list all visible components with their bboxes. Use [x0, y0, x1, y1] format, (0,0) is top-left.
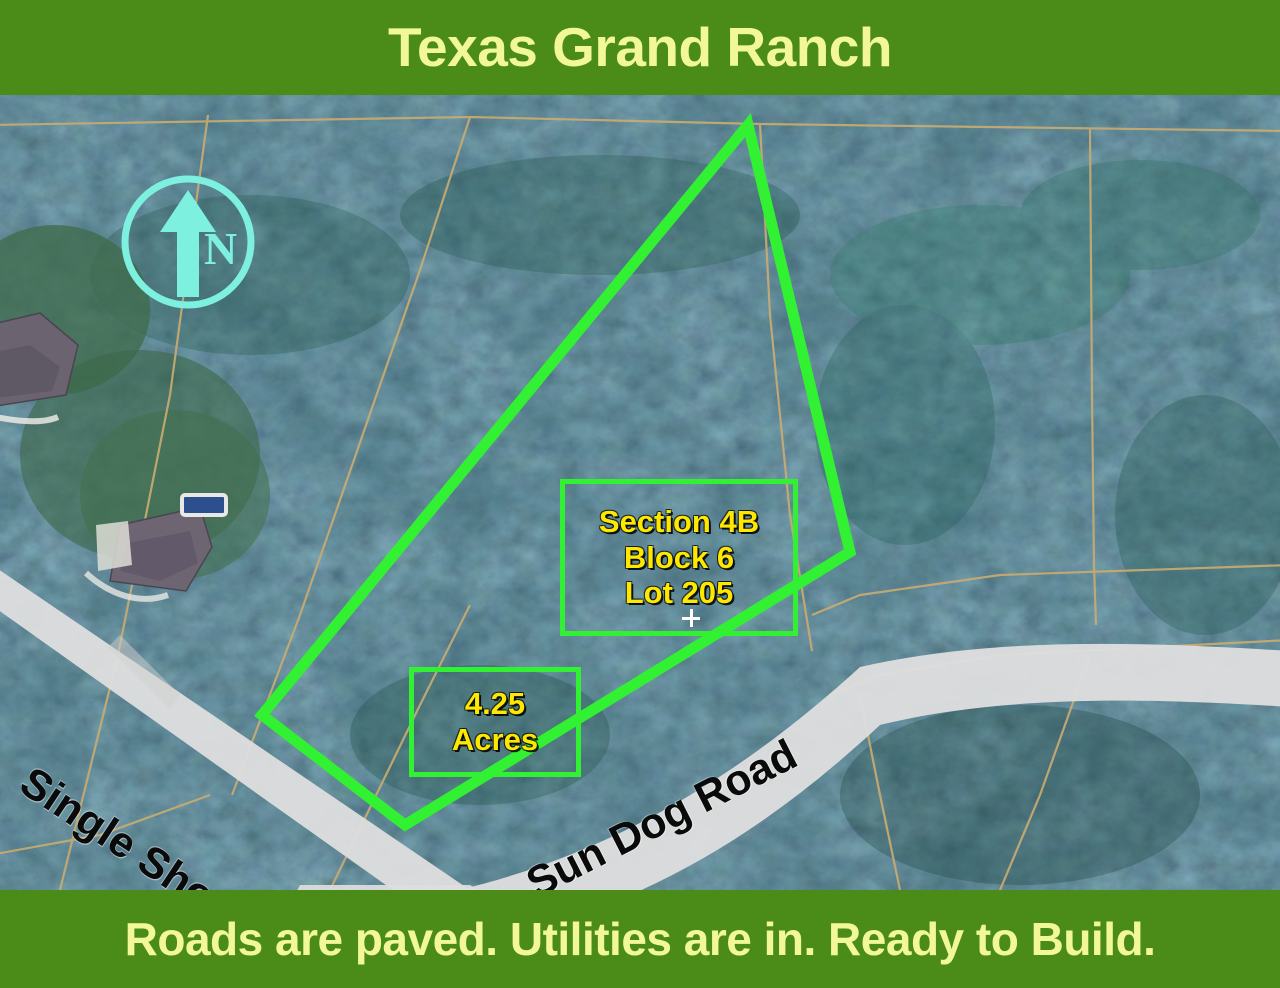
compass-rose: N: [118, 172, 258, 312]
tagline-text: Roads are paved. Utilities are in. Ready…: [125, 916, 1156, 962]
acreage-unit: Acres: [452, 722, 538, 758]
section-line: Section 4B: [599, 504, 759, 540]
lot-line: Lot 205: [625, 575, 734, 611]
compass-north-letter: N: [204, 226, 237, 272]
acreage-box: 4.25 Acres: [409, 667, 581, 777]
block-line: Block 6: [624, 540, 734, 576]
acreage-value: 4.25: [465, 686, 525, 722]
aerial-map: N Single Shot Court Sun Dog Road Section…: [0, 95, 1280, 890]
lot-identification-box: Section 4B Block 6 Lot 205: [560, 479, 798, 636]
swimming-pool: [182, 495, 226, 515]
lot-marketing-image: Texas Grand Ranch: [0, 0, 1280, 988]
page-title: Texas Grand Ranch: [388, 20, 892, 75]
title-banner: Texas Grand Ranch: [0, 0, 1280, 95]
tagline-banner: Roads are paved. Utilities are in. Ready…: [0, 890, 1280, 988]
crosshair-marker-icon: [682, 609, 700, 627]
